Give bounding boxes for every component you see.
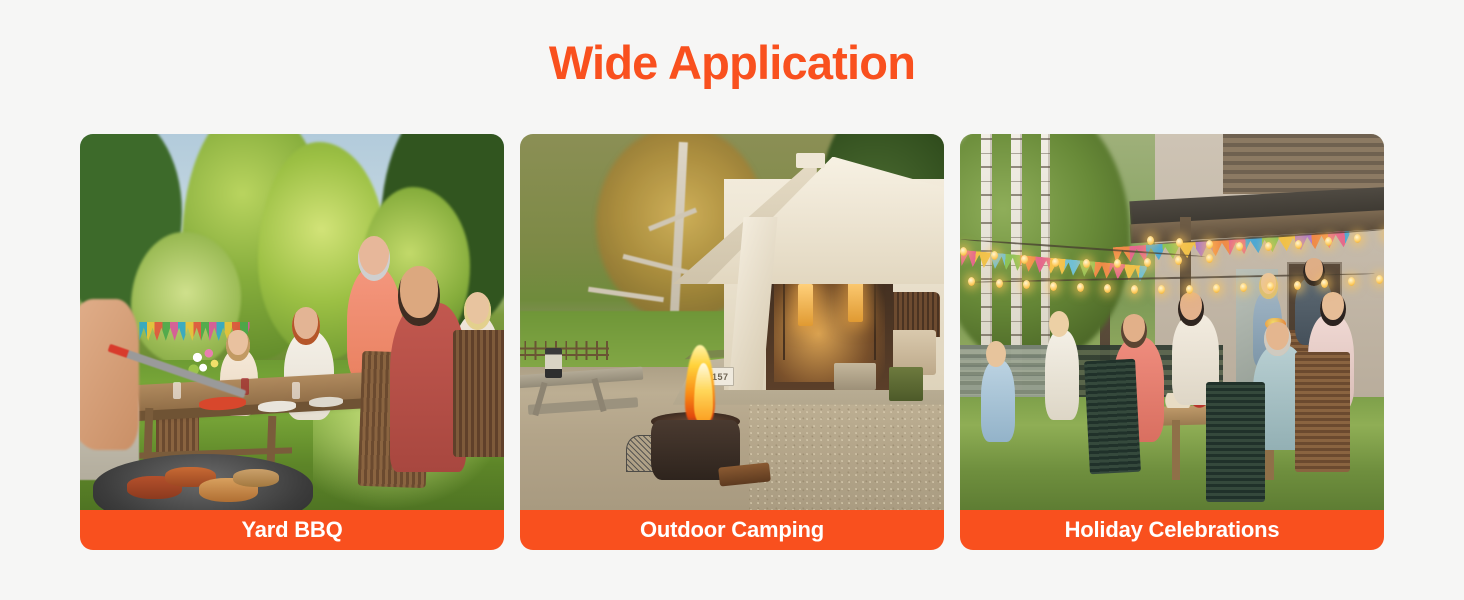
string-light-bulb-icon [1144,258,1151,267]
card-caption-outdoor-camping: Outdoor Camping [520,510,944,550]
application-card-grid: Yard BBQ [80,134,1384,550]
application-card-outdoor-camping[interactable]: 157 Outdoor Camping [520,134,944,550]
yard-bbq-scene [80,134,504,510]
string-light-bulb-icon [996,279,1003,288]
card-caption-holiday-celebrations: Holiday Celebrations [960,510,1384,550]
string-light-bulb-icon [1023,280,1030,289]
yard-bbq-photo [80,134,504,510]
string-light-bulb-icon [1186,285,1193,294]
application-card-yard-bbq[interactable]: Yard BBQ [80,134,504,550]
wide-application-section: Wide Application [0,0,1464,600]
string-light-bulb-icon [1294,281,1301,290]
string-light-bulb-icon [991,251,998,260]
string-light-bulb-icon [1131,285,1138,294]
string-light-bulb-icon [1376,275,1383,284]
string-light-bulb-icon [1077,283,1084,292]
string-light-bulb-icon [1325,237,1332,246]
string-light-bulb-icon [1147,236,1154,245]
camp-lantern-icon [545,348,562,378]
holiday-celebrations-scene [960,134,1384,510]
application-card-holiday-celebrations[interactable]: Holiday Celebrations [960,134,1384,550]
page-title: Wide Application [0,38,1464,87]
card-caption-yard-bbq: Yard BBQ [80,510,504,550]
string-light-bulb-icon [960,247,967,256]
tent-lamp-icon [798,284,812,325]
string-light-bulb-icon [1114,259,1121,268]
outdoor-camping-photo: 157 [520,134,944,510]
string-light-bulb-icon [1265,242,1272,251]
string-light-bulb-icon [1052,258,1059,267]
string-light-bulb-icon [1206,254,1213,263]
string-light-bulb-icon [1213,284,1220,293]
string-light-bulb-icon [1050,282,1057,291]
string-light-bulb-icon [1236,242,1243,251]
string-light-bulb-icon [1295,240,1302,249]
holiday-celebrations-photo [960,134,1384,510]
string-light-bulb-icon [1267,282,1274,291]
outdoor-camping-scene: 157 [520,134,944,510]
